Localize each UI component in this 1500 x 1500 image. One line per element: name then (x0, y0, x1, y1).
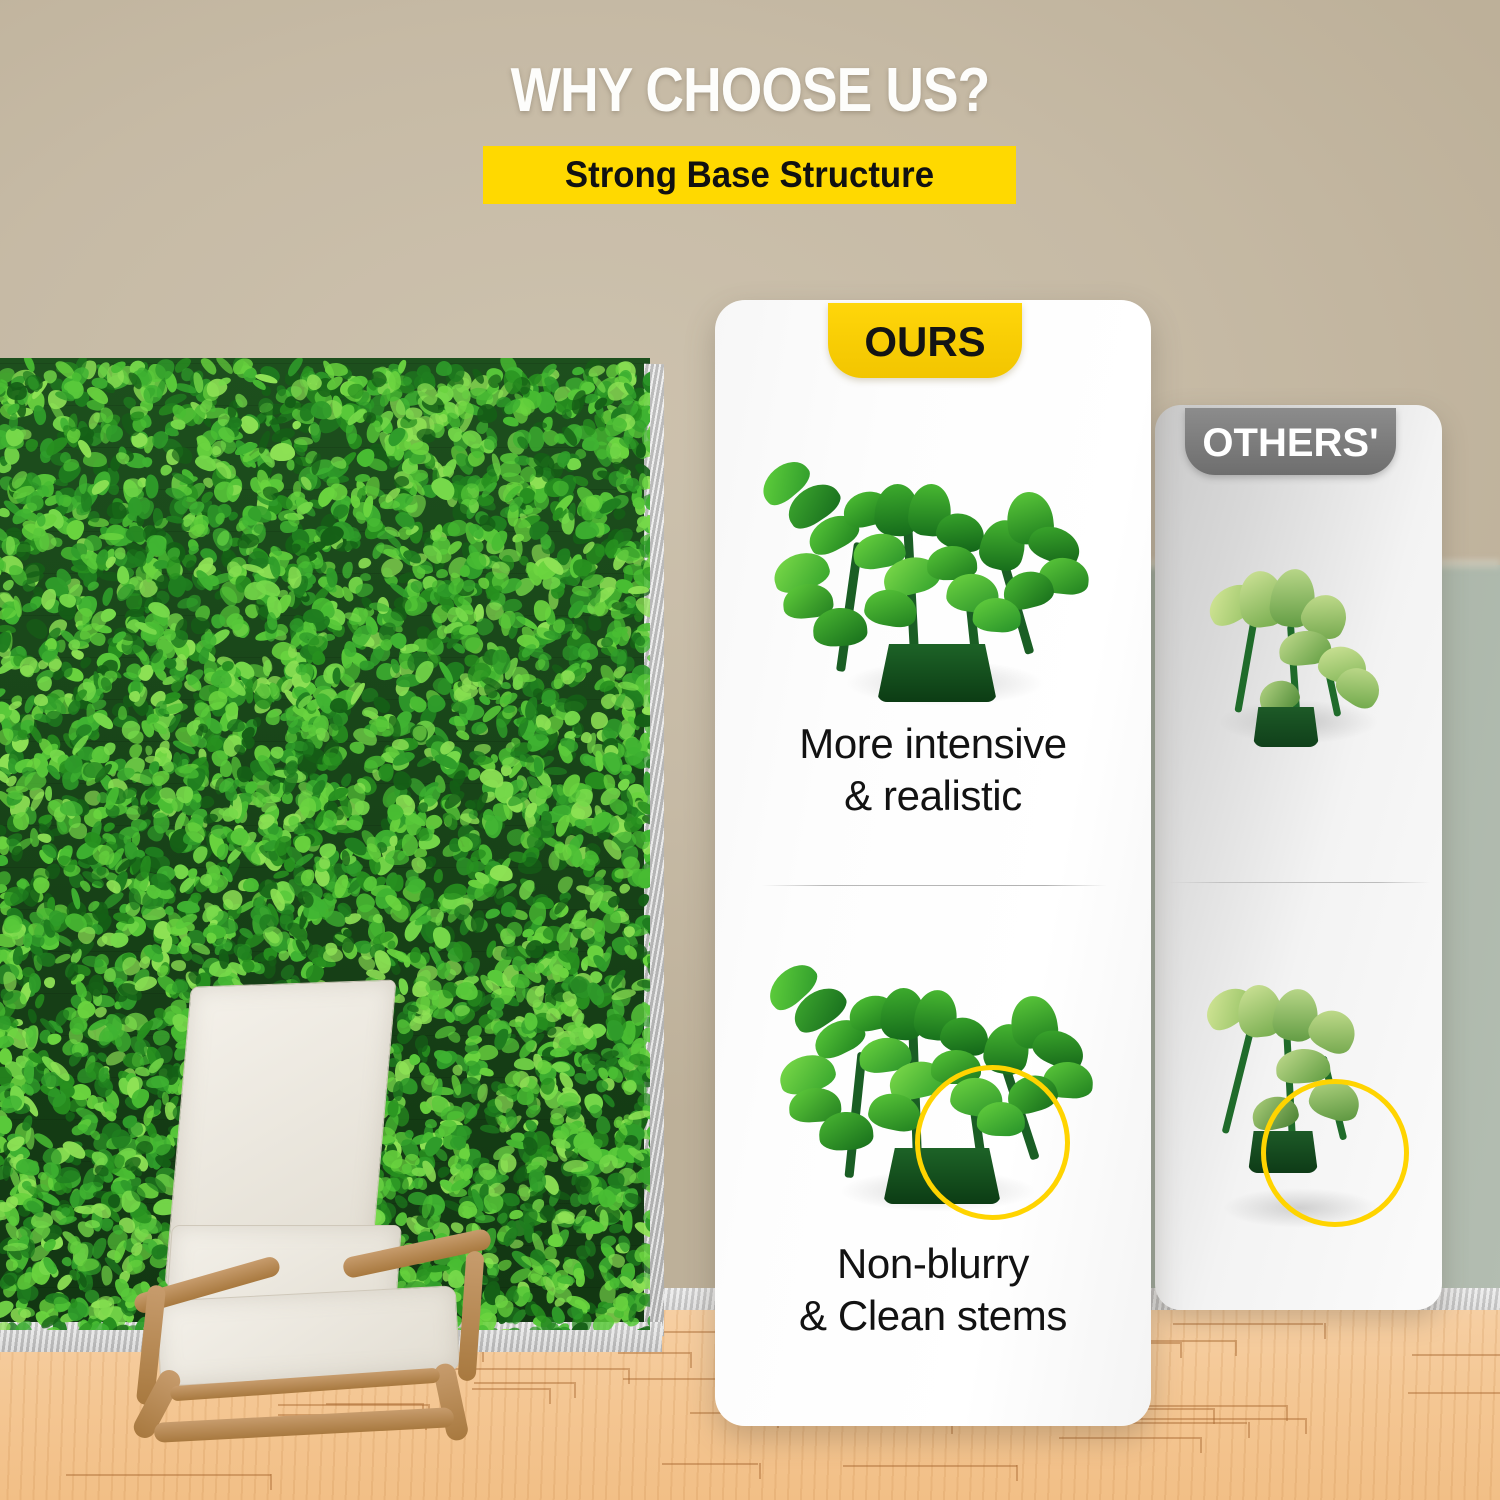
floor-plank-seam (1059, 1437, 1200, 1439)
hedge-leaf (476, 403, 498, 424)
hedge-leaf (114, 547, 125, 559)
hedge-leaf (46, 1032, 62, 1046)
hedge-leaf (575, 1272, 586, 1288)
hedge-leaf (45, 786, 52, 801)
hedge-leaf (166, 556, 181, 580)
hedge-leaf (433, 868, 444, 883)
hedge-leaf (24, 1060, 34, 1084)
hedge-leaf (33, 993, 46, 1010)
hedge-leaf (550, 1048, 569, 1057)
hedge-leaf (360, 573, 371, 581)
floor-plank-seam (66, 1474, 271, 1476)
floor-plank-seam (759, 1463, 761, 1479)
hedge-leaf (536, 784, 553, 799)
hedge-leaf (595, 1307, 607, 1314)
hedge-leaf (0, 868, 14, 888)
hedge-leaf (99, 533, 124, 540)
hedge-leaf (27, 1008, 39, 1025)
floor-plank-seam (549, 1388, 551, 1404)
hedge-leaf (332, 667, 340, 684)
hedge-leaf (299, 797, 317, 818)
floor-plank-seam (623, 1378, 726, 1380)
hedge-leaf (483, 809, 495, 822)
hedge-leaf (646, 653, 650, 666)
floor-plank-seam (1305, 1418, 1307, 1434)
floor-plank-seam (1200, 1437, 1202, 1453)
hedge-leaf (32, 404, 48, 426)
hedge-leaf (210, 524, 237, 554)
floor-plank-seam (574, 1382, 576, 1398)
floor-plank-seam (1248, 1422, 1250, 1438)
floor-plank-seam (1412, 1354, 1500, 1356)
hedge-leaf (88, 974, 104, 997)
hedge-leaf (341, 561, 354, 580)
hedge-leaf (85, 1220, 100, 1229)
hedge-leaf (171, 959, 187, 971)
hedge-leaf (484, 907, 501, 921)
hedge-leaf (501, 902, 516, 917)
hedge-leaf (252, 716, 261, 727)
hedge-leaf (622, 1210, 632, 1233)
hedge-leaf (43, 976, 56, 989)
floor-plank-seam (662, 1463, 758, 1465)
hedge-leaf (518, 674, 536, 682)
hedge-leaf (145, 474, 159, 498)
hedge-leaf (21, 602, 37, 613)
hedge-leaf (649, 937, 650, 948)
hedge-leaf (385, 850, 409, 865)
floor-plank-seam (628, 1368, 630, 1384)
hedge-leaf (501, 681, 512, 689)
hedge-leaf (323, 948, 343, 963)
floor-plank-seam (843, 1465, 1017, 1467)
hedge-leaf (126, 609, 144, 617)
hedge-leaf (528, 902, 546, 926)
floor-plank-seam (1324, 1323, 1326, 1339)
hedge-leaf (389, 371, 401, 390)
hedge-leaf (436, 361, 452, 376)
hedge-leaf (415, 754, 434, 768)
hedge-leaf (263, 660, 272, 676)
hedge-leaf (601, 1092, 617, 1109)
floor-plank-seam (618, 1352, 690, 1354)
hedge-leaf (501, 947, 516, 961)
hedge-leaf (577, 642, 598, 660)
hedge-leaf (0, 855, 8, 867)
floor-plank-seam (1408, 1392, 1500, 1394)
hedge-leaf (636, 892, 650, 908)
floor-plank-seam (1235, 1340, 1237, 1356)
floor-plank-seam (270, 1474, 272, 1490)
hedge-leaf (102, 821, 116, 834)
floor-plank-seam (690, 1352, 692, 1368)
hedge-leaf (555, 873, 576, 895)
floor-plank-seam (1180, 1342, 1182, 1358)
hedge-leaf (200, 874, 212, 886)
hedge-leaf (118, 706, 127, 720)
hedge-leaf (617, 547, 641, 561)
hedge-leaf (528, 426, 545, 451)
hedge-leaf (643, 771, 650, 795)
hedge-leaf (243, 878, 259, 892)
hedge-leaf (637, 622, 650, 633)
hedge-leaf (100, 586, 114, 607)
hedge-leaf (552, 805, 571, 816)
hedge-leaf (140, 769, 154, 786)
hedge-leaf (582, 437, 600, 452)
hedge-leaf (22, 966, 36, 977)
hedge-leaf (0, 686, 7, 701)
hedge-leaf (145, 745, 153, 756)
hedge-leaf (544, 767, 567, 776)
floor-plank-seam (1173, 1323, 1323, 1325)
hedge-leaf (12, 811, 29, 830)
floor-plank-seam (1016, 1465, 1018, 1481)
hedge-leaf (12, 946, 24, 966)
hedge-leaf (294, 437, 313, 445)
